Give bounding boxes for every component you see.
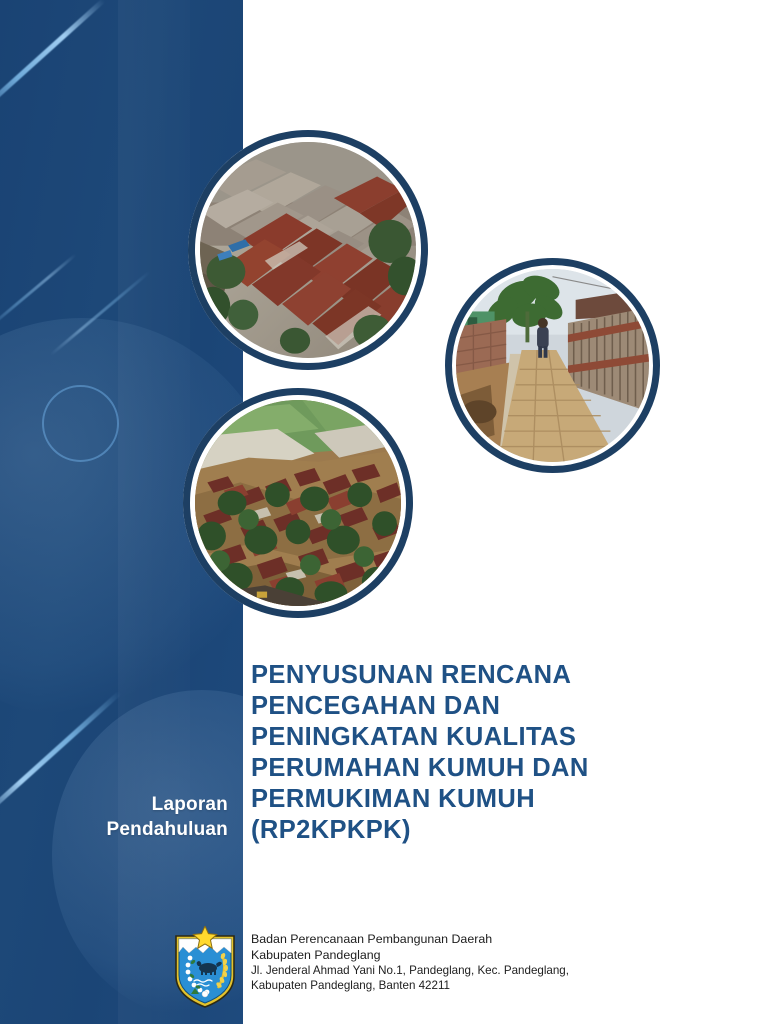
report-type-line-1: Laporan	[20, 792, 228, 817]
decorative-ring-outline	[42, 385, 119, 462]
coat-of-arms-shield	[168, 926, 242, 1010]
title-line: (RP2KPKPK)	[251, 815, 721, 846]
title-line: PERUMAHAN KUMUH DAN	[251, 753, 721, 784]
address-line-2: Kabupaten Pandeglang, Banten 42211	[251, 978, 569, 993]
footer-imprint: Badan Perencanaan Pembangunan Daerah Kab…	[168, 926, 569, 1010]
paving-block-alley-photo	[445, 258, 660, 473]
report-type-line-2: Pendahuluan	[20, 817, 228, 842]
photo-circle-border	[188, 130, 428, 370]
page-title: PENYUSUNAN RENCANA PENCEGAHAN DAN PENING…	[251, 660, 721, 846]
photo-circle-border	[445, 258, 660, 473]
organization-name-line-1: Badan Perencanaan Pembangunan Daerah	[251, 932, 569, 948]
imprint-text-block: Badan Perencanaan Pembangunan Daerah Kab…	[251, 926, 569, 993]
photo-circle-border	[183, 388, 413, 618]
aerial-flooded-village-photo	[183, 388, 413, 618]
organization-name-line-2: Kabupaten Pandeglang	[251, 948, 569, 964]
report-type-label: Laporan Pendahuluan	[20, 792, 228, 842]
aerial-housing-rooftops-photo	[188, 130, 428, 370]
pandeglang-regency-coat-of-arms-icon	[168, 926, 242, 1010]
title-line: PENCEGAHAN DAN	[251, 691, 721, 722]
title-line: PENINGKATAN KUALITAS	[251, 722, 721, 753]
title-line: PENYUSUNAN RENCANA	[251, 660, 721, 691]
decorative-streak-icon	[0, 0, 105, 122]
address-line-1: Jl. Jenderal Ahmad Yani No.1, Pandeglang…	[251, 963, 569, 978]
title-line: PERMUKIMAN KUMUH	[251, 784, 721, 815]
